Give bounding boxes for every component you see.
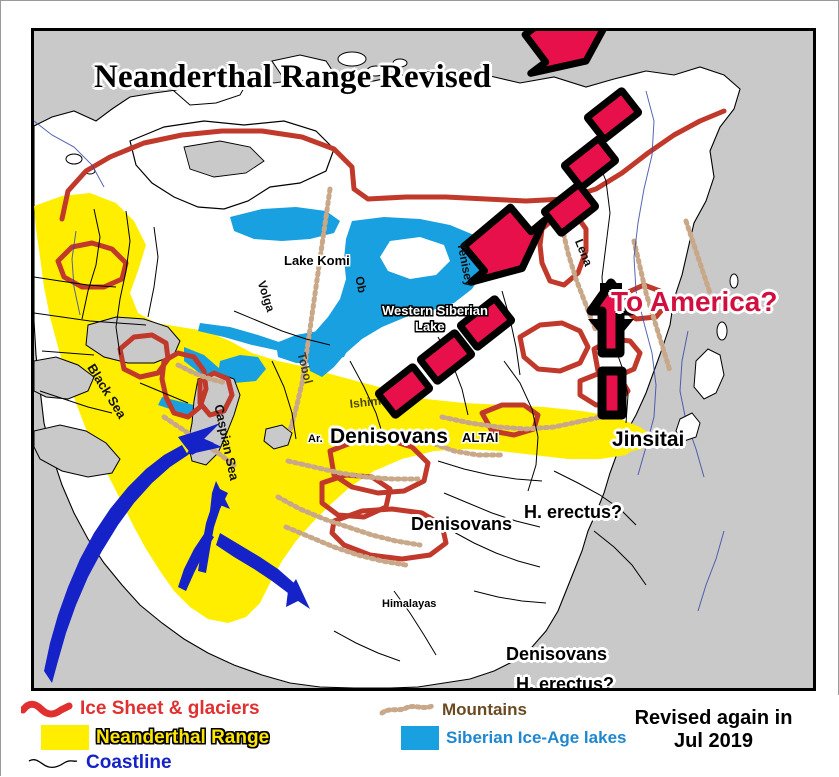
map-panel: Neanderthal Range Revised Lake Komi West… xyxy=(31,28,816,691)
scale-bar-label: 2000 km xyxy=(771,686,816,691)
legend-item-siberian-lakes: Siberian Ice-Age lakes xyxy=(401,726,626,750)
label-h-erectus-north: H. erectus? xyxy=(524,502,622,523)
legend: Ice Sheet & glaciers Neanderthal Range C… xyxy=(1,695,839,777)
label-h-erectus-south: H. erectus? xyxy=(516,674,614,691)
mountains-swatch-icon xyxy=(379,702,435,718)
legend-item-mountains: Mountains xyxy=(379,700,527,720)
coastline-swatch-icon xyxy=(27,754,79,772)
legend-label-mountains: Mountains xyxy=(442,700,527,720)
map-title: Neanderthal Range Revised xyxy=(94,59,491,96)
label-himalayas: Himalayas xyxy=(382,598,436,610)
label-denisovans-south: Denisovans xyxy=(506,644,607,665)
legend-label-siberian-lakes: Siberian Ice-Age lakes xyxy=(446,728,626,748)
label-denisovans-central: Denisovans xyxy=(411,514,512,535)
revised-note-line2: Jul 2019 xyxy=(606,730,821,753)
map-figure: Neanderthal Range Revised Lake Komi West… xyxy=(0,0,839,776)
neanderthal-range-swatch-icon xyxy=(41,725,89,750)
legend-label-coastline: Coastline xyxy=(86,752,172,774)
label-h-sapiens: H. sapiens xyxy=(77,688,182,691)
revised-note: Revised again in Jul 2019 xyxy=(606,707,821,753)
label-western-siberian-lake-line2: Lake xyxy=(415,319,445,334)
label-lake-komi: Lake Komi xyxy=(284,253,350,268)
scale-bar: 2000 km xyxy=(771,686,816,691)
map-graphic xyxy=(34,31,813,688)
revised-note-line1: Revised again in xyxy=(606,707,821,730)
label-aral-sea: Ar. xyxy=(308,433,323,445)
label-altai: ALTAI xyxy=(462,430,498,445)
legend-item-coastline: Coastline xyxy=(27,752,172,774)
label-denisovans-altai: Denisovans xyxy=(330,425,448,449)
legend-item-neanderthal-range: Neanderthal Range xyxy=(41,725,269,750)
siberian-lakes-swatch-icon xyxy=(401,726,439,750)
label-western-siberian-lake-line1: Western Siberian xyxy=(382,303,488,318)
legend-label-ice-sheet: Ice Sheet & glaciers xyxy=(80,698,260,720)
legend-label-neanderthal-range: Neanderthal Range xyxy=(96,727,269,749)
legend-item-ice-sheet: Ice Sheet & glaciers xyxy=(21,698,260,720)
label-to-america: To America? xyxy=(611,286,777,318)
label-jinsitai: Jinsitai xyxy=(612,428,684,452)
ice-sheet-swatch-icon xyxy=(21,699,73,719)
